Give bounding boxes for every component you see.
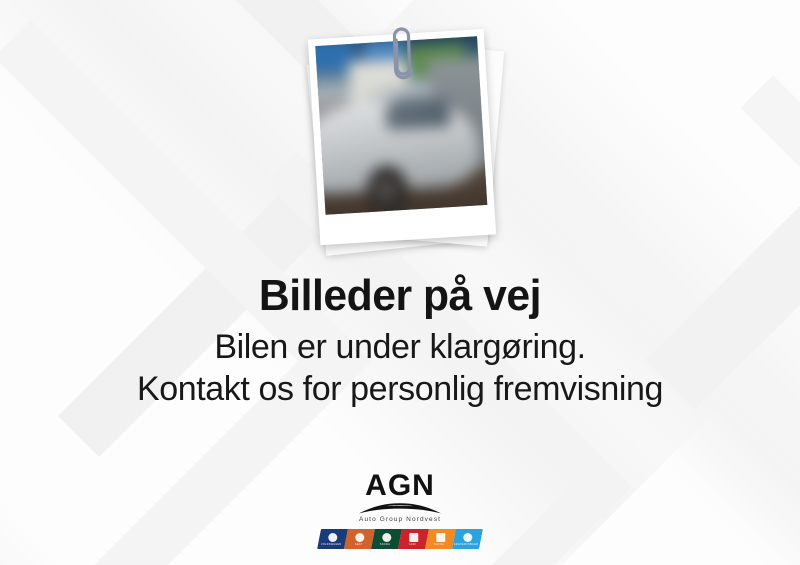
agn-wordmark: AGN [365, 471, 435, 501]
subtitle-line-2: Kontakt os for personlig fremvisning [0, 368, 800, 411]
image-placeholder-card: Billeder på vej Bilen er under klargørin… [0, 0, 800, 565]
brand-badge-volkswagen-erhvervsbiler[interactable]: ERHVERVSBILER [452, 529, 483, 549]
brand-badge-volkswagen[interactable]: VOLKSWAGEN [317, 529, 348, 549]
car-swoosh-icon [357, 502, 443, 515]
brand-badge-label: AUDI [409, 543, 416, 546]
subtitle-line-1: Bilen er under klargøring. [0, 326, 800, 369]
brand-badge-skoda[interactable]: SKODA [371, 529, 402, 549]
paperclip-icon [384, 19, 420, 82]
footer-logo-block: AGN Auto Group Nordvest VOLKSWAGENSEATSK… [0, 471, 800, 549]
brand-badge-label: CUPRA [434, 543, 444, 546]
brand-logo-icon [436, 533, 445, 542]
brand-badge-label: VOLKSWAGEN [321, 543, 341, 546]
polaroid-photo-stack [302, 26, 502, 266]
brand-logo-icon [409, 533, 418, 542]
brand-badge-label: SEAT [355, 543, 362, 546]
brand-badge-cupra[interactable]: CUPRA [425, 529, 456, 549]
brand-logo-icon [382, 533, 391, 542]
brand-logo-icon [463, 533, 472, 542]
brand-badge-label: ERHVERVSBILER [454, 543, 478, 546]
brand-badge-strip: VOLKSWAGENSEATSKODAAUDICUPRAERHVERVSBILE… [317, 529, 483, 549]
brand-badge-seat[interactable]: SEAT [344, 529, 375, 549]
brand-logo-icon [355, 533, 364, 542]
page-title: Billeder på vej [12, 272, 788, 320]
headline-block: Billeder på vej Bilen er under klargørin… [0, 272, 800, 411]
agn-tagline: Auto Group Nordvest [359, 516, 441, 523]
brand-badge-label: SKODA [380, 543, 390, 546]
brand-badge-audi[interactable]: AUDI [398, 529, 429, 549]
brand-logo-icon [328, 533, 337, 542]
